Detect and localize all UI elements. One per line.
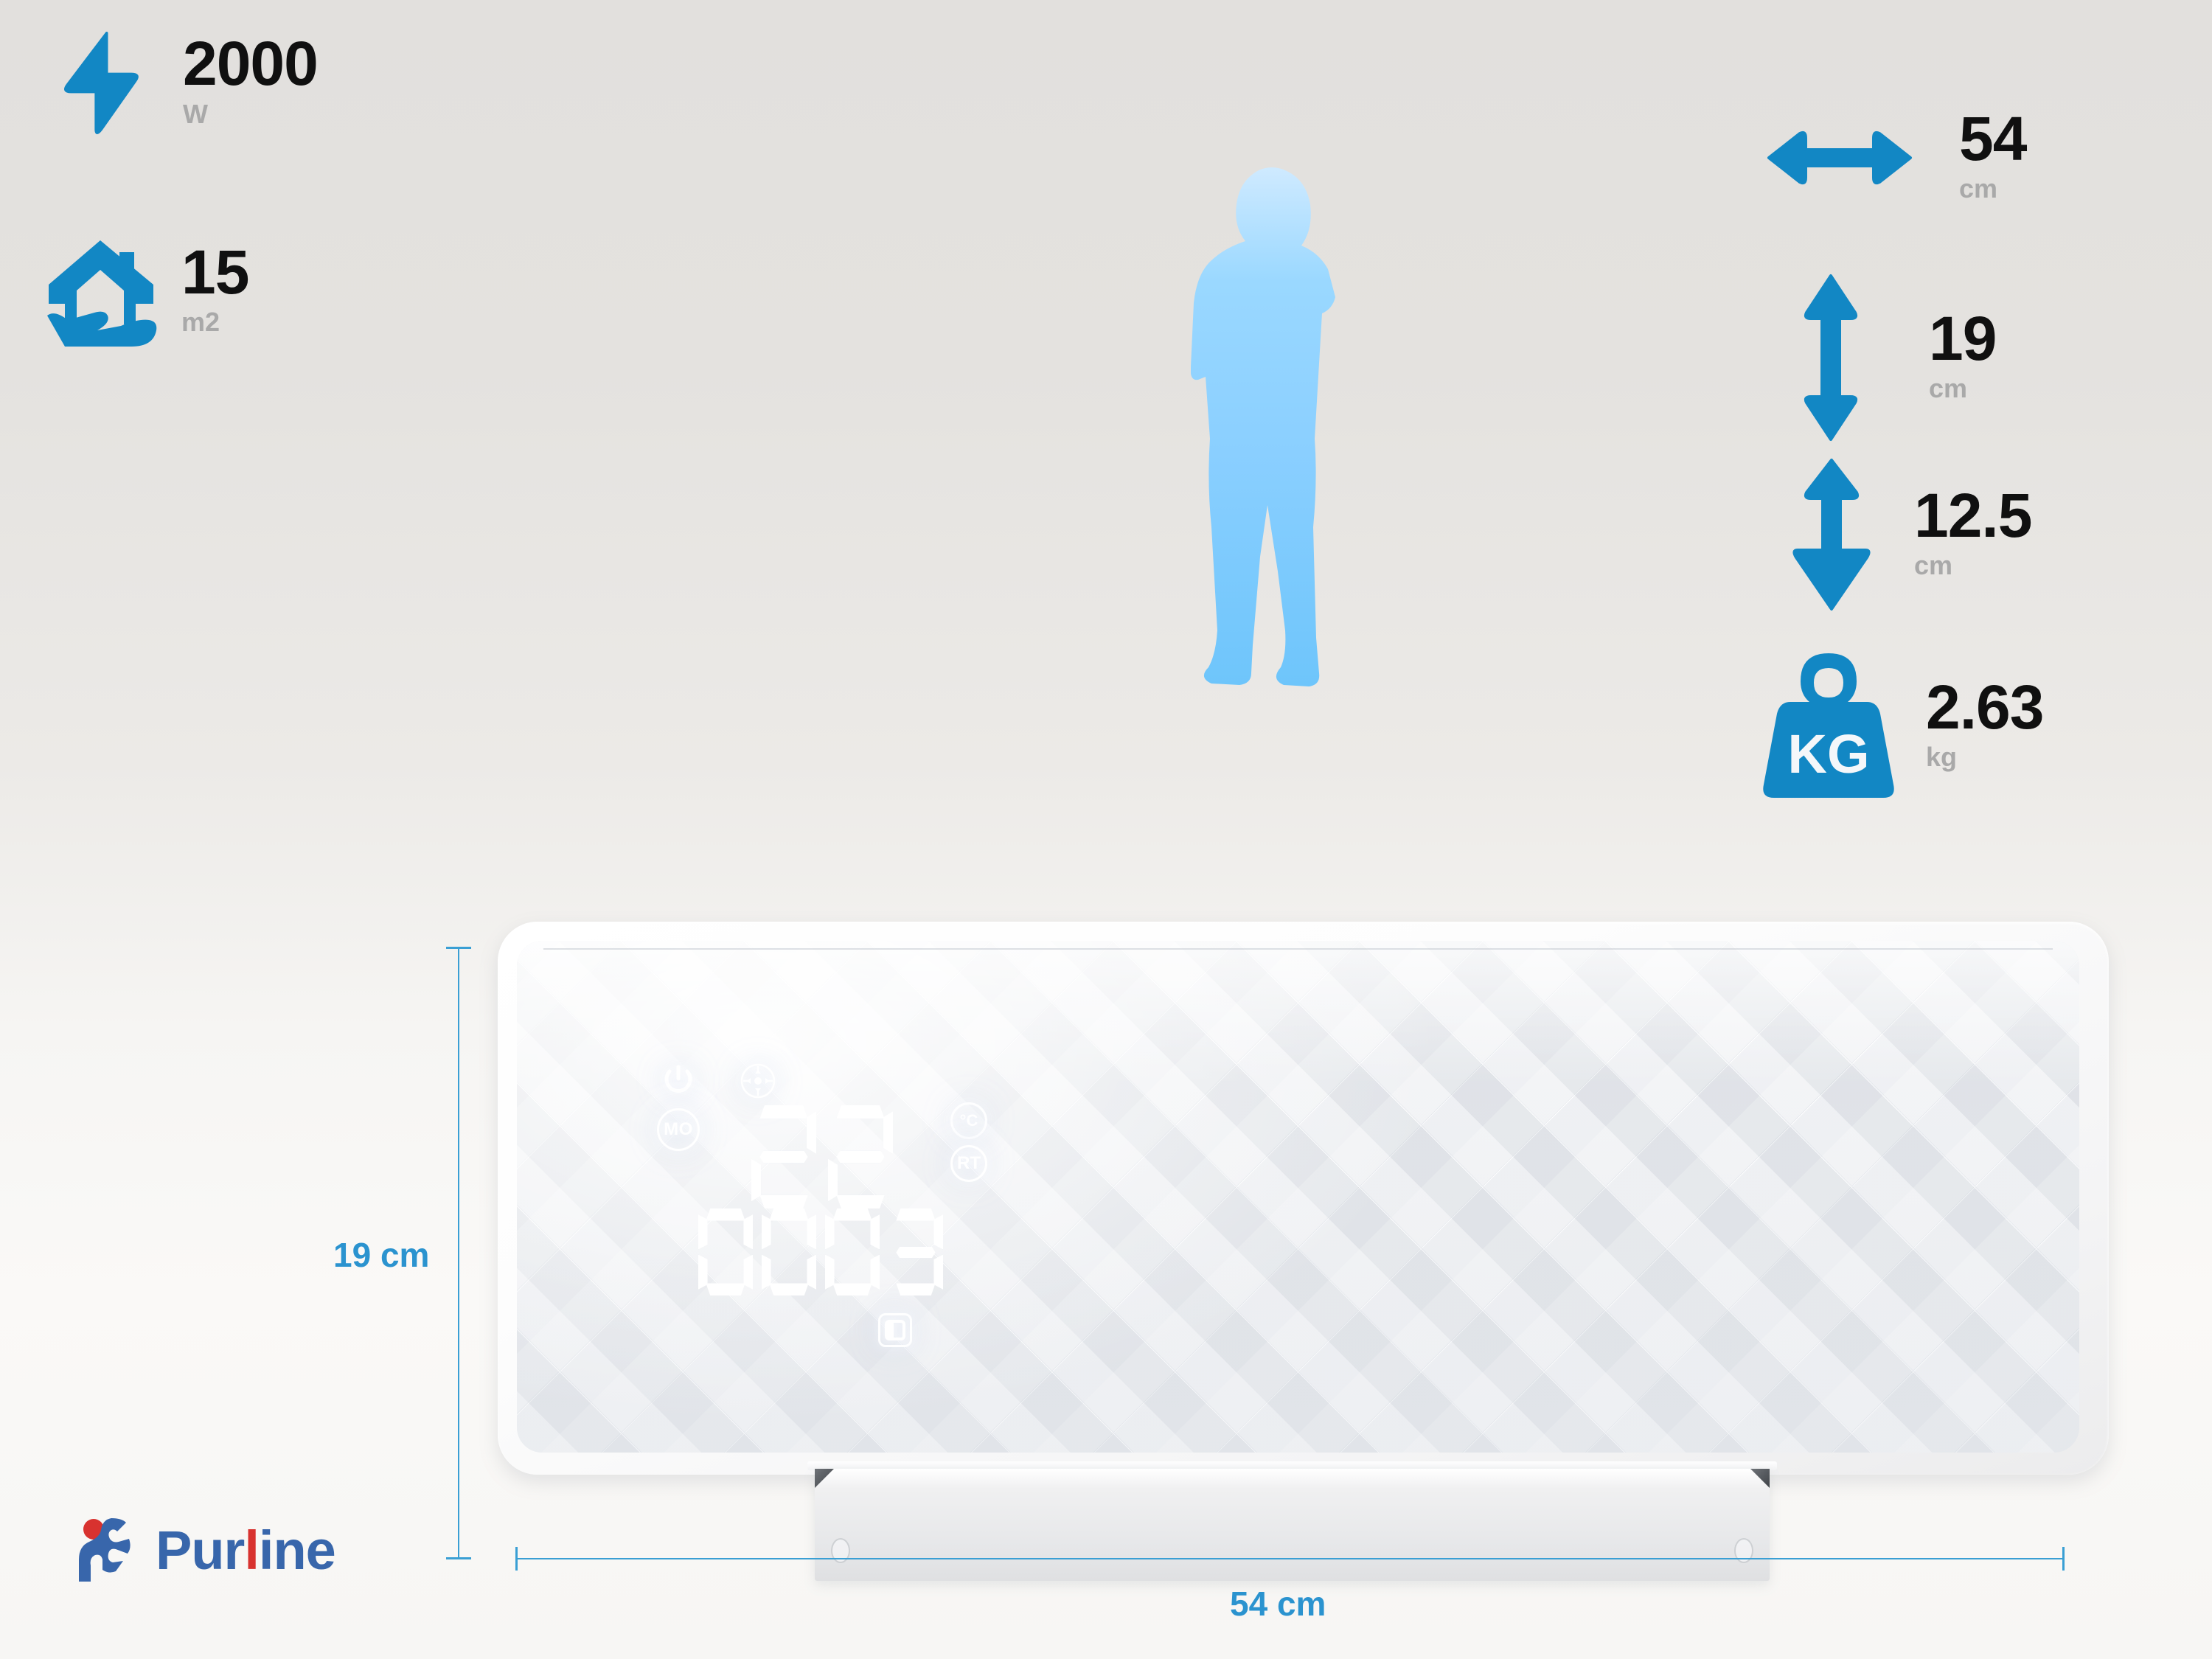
temp-digit-2 <box>828 1105 893 1208</box>
purline-logo-mark <box>77 1517 145 1585</box>
width-guide-tick-left <box>515 1547 518 1571</box>
spec-area: 15 m2 <box>43 236 248 347</box>
timer-digit-2 <box>762 1208 816 1295</box>
spec-area-unit: m2 <box>181 305 248 338</box>
spec-weight: KG 2.63 kg <box>1762 649 2044 804</box>
kg-weight-icon: KG <box>1762 649 1895 804</box>
spec-height-unit: cm <box>1929 372 1996 405</box>
spec-power-value: 2000 <box>183 35 318 92</box>
height-guide-tick-bottom <box>446 1557 471 1559</box>
oscillation-icon[interactable] <box>740 1062 776 1099</box>
power-icon[interactable] <box>661 1062 695 1096</box>
width-guide-label: 54 cm <box>1230 1584 1326 1624</box>
width-guide-line <box>516 1558 2065 1559</box>
base-cap-right <box>1750 1469 1770 1488</box>
spec-width: 54 cm <box>1766 111 2026 205</box>
height-guide-line <box>458 947 459 1559</box>
spec-height: 19 cm <box>1799 273 1996 442</box>
person-silhouette-icon <box>1191 159 1382 748</box>
timer-digit-3 <box>825 1208 880 1295</box>
spec-depth: 12.5 cm <box>1792 457 2032 612</box>
timer-window-icon[interactable] <box>878 1313 912 1347</box>
kg-icon-label: KG <box>1788 723 1870 785</box>
product-image: MO °C RT <box>472 907 2153 1504</box>
width-guide-tick-right <box>2062 1547 2065 1571</box>
lightning-bolt-icon <box>52 29 147 136</box>
spec-weight-unit: kg <box>1926 740 2044 773</box>
spec-height-value: 19 <box>1929 310 1996 367</box>
spec-width-unit: cm <box>1959 172 2026 205</box>
heater-body: MO °C RT <box>498 922 2109 1475</box>
base-cap-left <box>815 1469 834 1488</box>
vertical-double-arrow-icon <box>1799 273 1863 442</box>
purline-logo: Purline <box>77 1508 387 1593</box>
vertical-depth-arrow-icon <box>1792 457 1871 612</box>
horizontal-double-arrow-icon <box>1766 126 1913 189</box>
spec-power-unit: W <box>183 97 318 131</box>
purline-logo-text: Purline <box>156 1519 335 1582</box>
room-temp-indicator: RT <box>950 1145 987 1182</box>
temp-digit-1 <box>751 1105 816 1208</box>
spec-depth-value: 12.5 <box>1914 487 2032 544</box>
heater-front-panel: MO °C RT <box>517 941 2079 1453</box>
spec-depth-unit: cm <box>1914 549 2032 582</box>
spec-area-value: 15 <box>181 244 248 301</box>
timer-digit-4 <box>888 1208 943 1295</box>
temperature-display <box>751 1105 893 1208</box>
logo-text-accent: l <box>244 1520 259 1581</box>
logo-text-part1: Pur <box>156 1520 244 1581</box>
mode-button[interactable]: MO <box>657 1108 700 1151</box>
control-panel[interactable]: MO °C RT <box>657 1062 1040 1387</box>
product-base-stand <box>815 1469 1770 1581</box>
spec-weight-value: 2.63 <box>1926 679 2044 736</box>
height-guide-label: 19 cm <box>333 1235 429 1275</box>
timer-digit-1 <box>698 1208 753 1295</box>
panel-seam <box>543 948 2053 950</box>
house-in-hand-icon <box>43 236 161 347</box>
celsius-indicator: °C <box>950 1102 987 1139</box>
height-guide-tick-top <box>446 947 471 949</box>
logo-text-part2: ine <box>259 1520 335 1581</box>
spec-power: 2000 W <box>52 29 318 136</box>
spec-width-value: 54 <box>1959 111 2026 167</box>
timer-display <box>698 1208 943 1295</box>
